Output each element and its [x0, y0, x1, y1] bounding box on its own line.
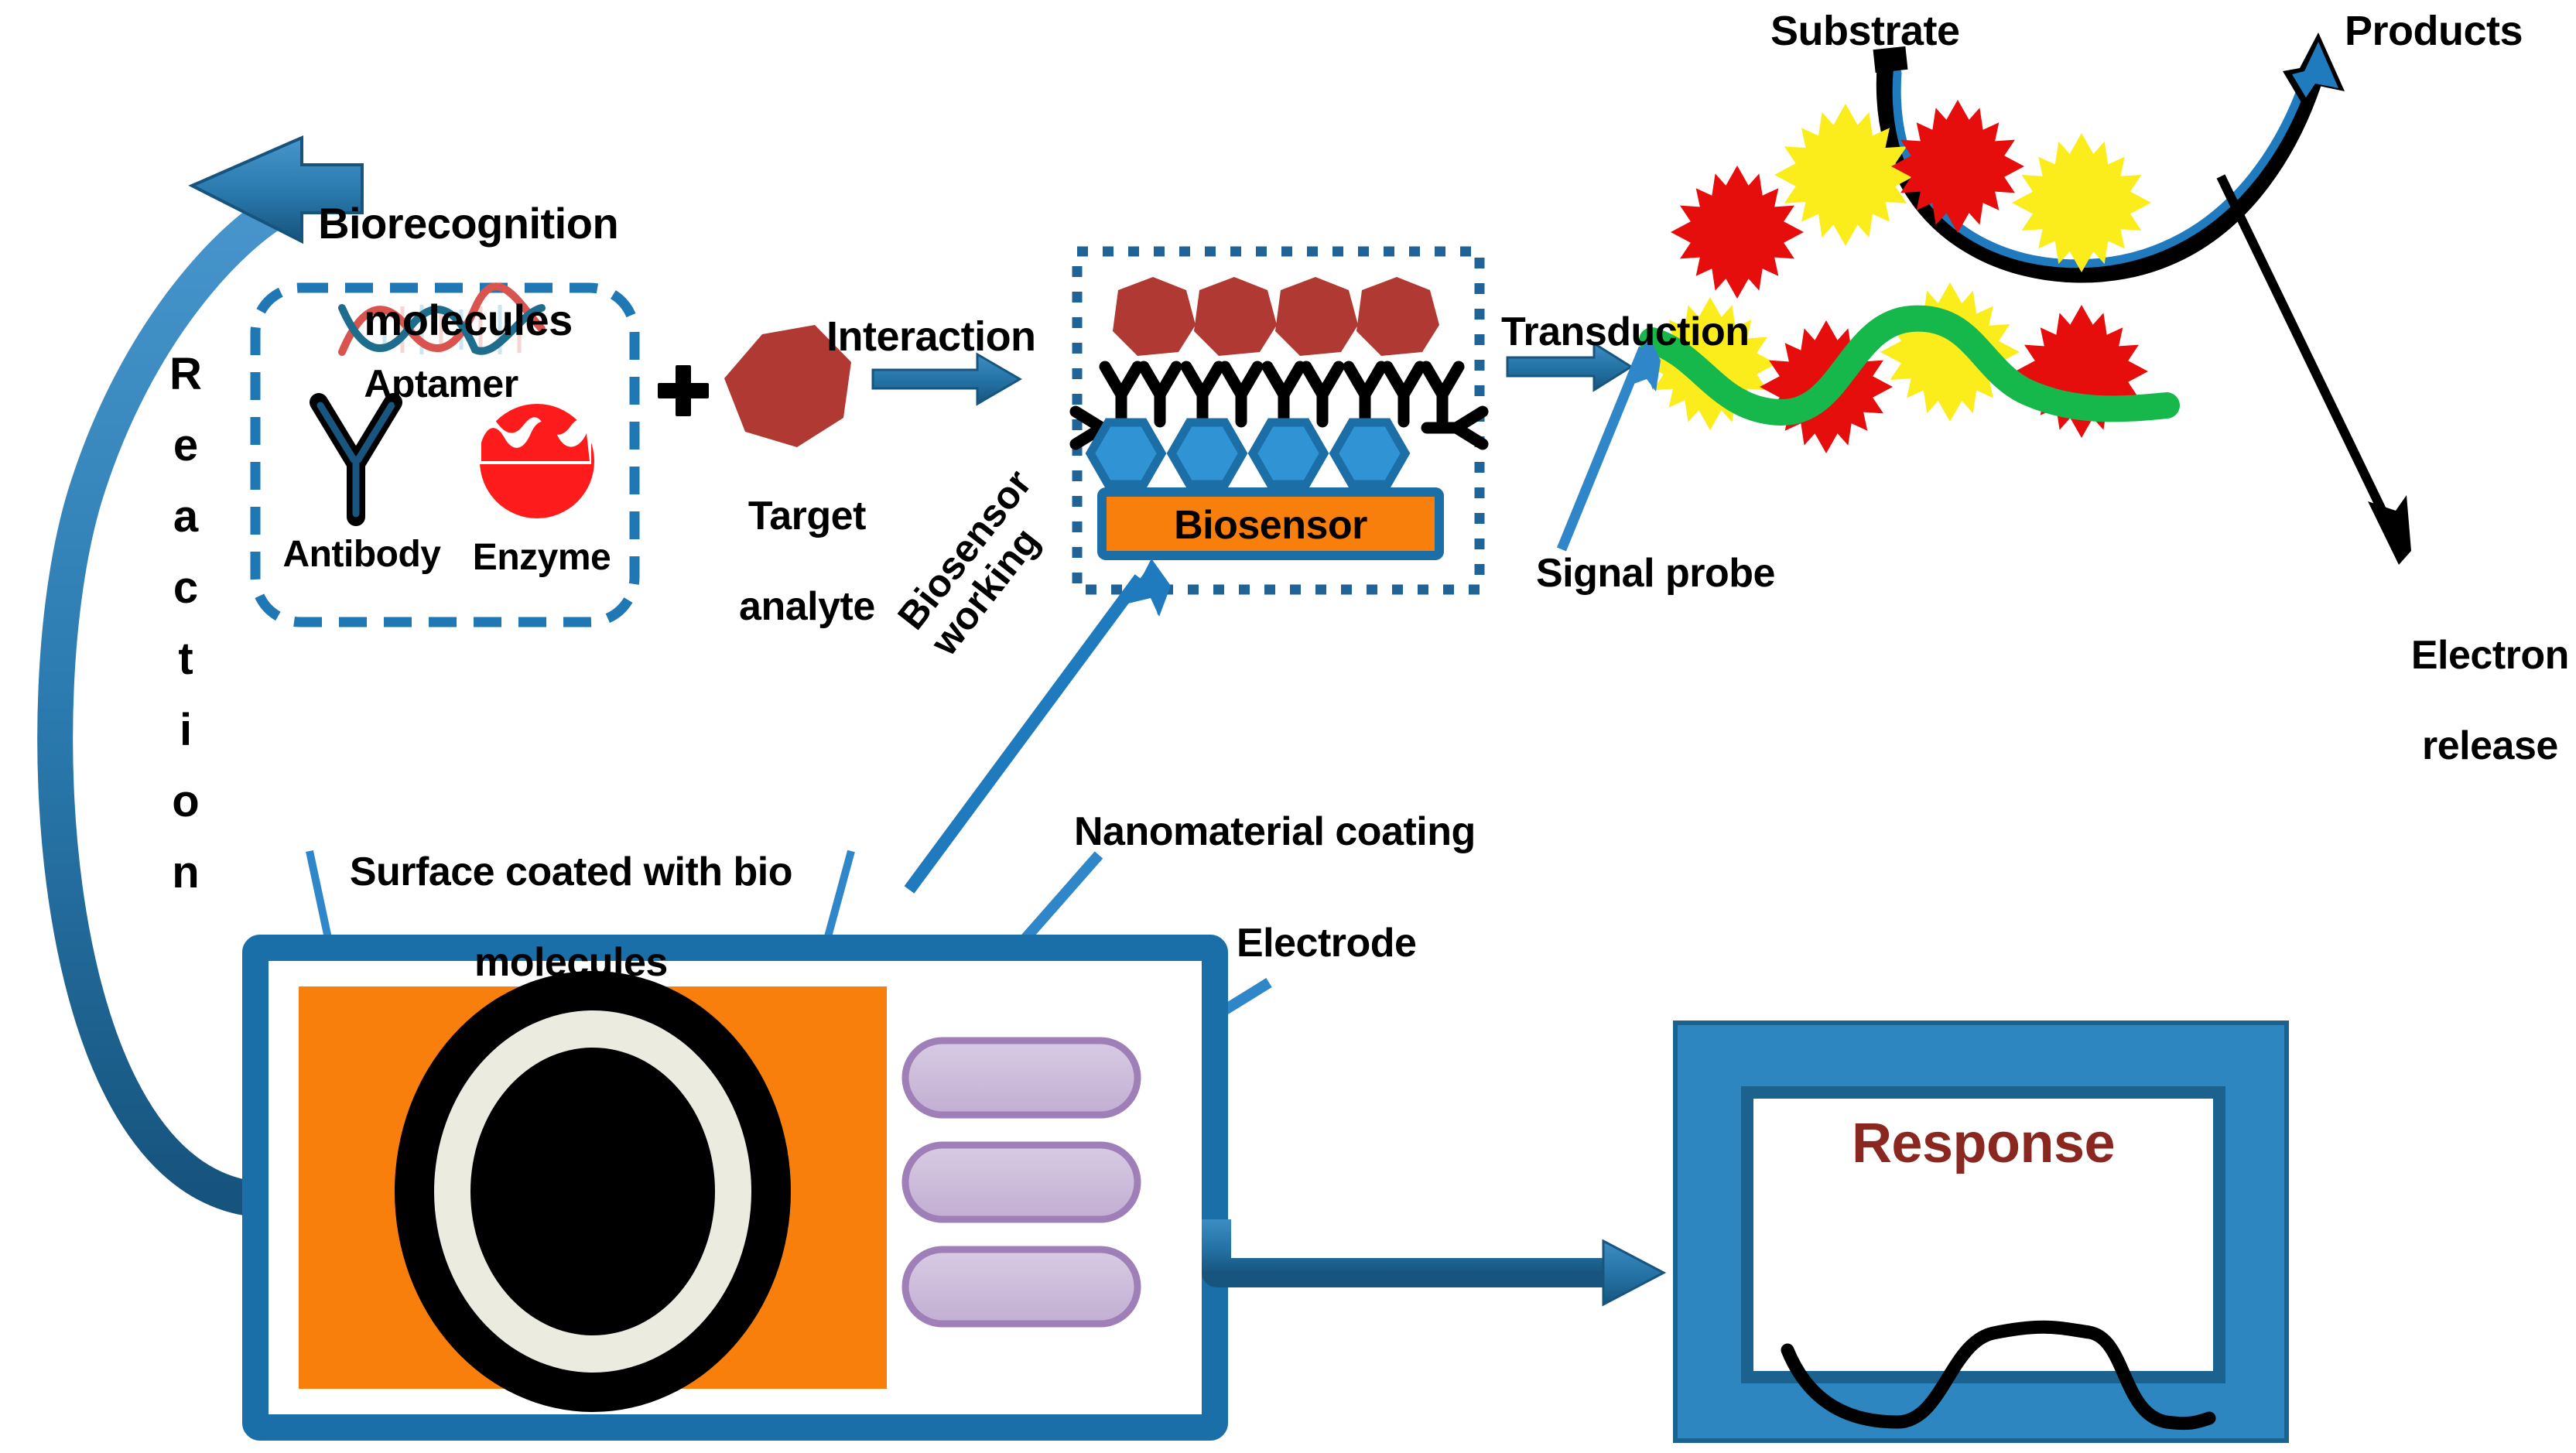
chip-to-response-arrow	[1216, 1219, 1664, 1304]
chip-ring-inner	[470, 1048, 715, 1335]
plus-icon	[658, 365, 709, 416]
nanomaterial-hexagon-row	[1090, 422, 1405, 484]
substrate-label: Substrate	[1770, 8, 1960, 54]
enzyme-label: Enzyme	[453, 537, 631, 579]
nanomaterial-coating-label: Nanomaterial coating	[1074, 809, 1476, 854]
antibody-icon	[319, 402, 393, 517]
interaction-label: Interaction	[826, 313, 1036, 360]
transduction-label: Transduction	[1501, 309, 1749, 354]
electrode-fingers	[905, 1041, 1137, 1324]
target-analyte-label: Target analyte	[689, 449, 882, 674]
response-title: Response	[1747, 1113, 2219, 1175]
surface-coated-label: Surface coated with bio molecules	[255, 805, 843, 1030]
reaction-letter: R	[169, 352, 202, 397]
signal-probe-label: Signal probe	[1536, 551, 1775, 596]
antibody-label: Antibody	[255, 534, 468, 576]
electrode-label: Electrode	[1237, 921, 1416, 966]
enzyme-icon	[480, 404, 594, 518]
biorecognition-title: Biorecognition molecules	[255, 151, 635, 394]
reaction-letter: o	[172, 779, 199, 824]
interaction-arrow	[873, 354, 1020, 404]
reaction-letter: t	[178, 637, 193, 682]
electron-release-label: Electron release	[2364, 588, 2573, 813]
reaction-letter: e	[173, 423, 198, 468]
aptamer-label: Aptamer	[325, 362, 557, 405]
antibody-row	[1105, 367, 1459, 422]
products-label: Products	[2345, 8, 2523, 54]
biosensor-diagram: Biorecognition molecules Aptamer Antibod…	[0, 0, 2576, 1453]
electron-release-arrow	[2221, 176, 2411, 565]
bound-analyte-row	[1113, 277, 1439, 356]
response-panel	[1675, 1023, 2287, 1441]
reaction-letter: a	[173, 494, 198, 539]
biosensor-strip-label: Biosensor	[1102, 503, 1439, 548]
reaction-label: R e a c t i o n	[151, 352, 221, 895]
reaction-letter: n	[172, 850, 199, 895]
reaction-letter: i	[180, 708, 192, 753]
reaction-letter: c	[173, 566, 198, 610]
